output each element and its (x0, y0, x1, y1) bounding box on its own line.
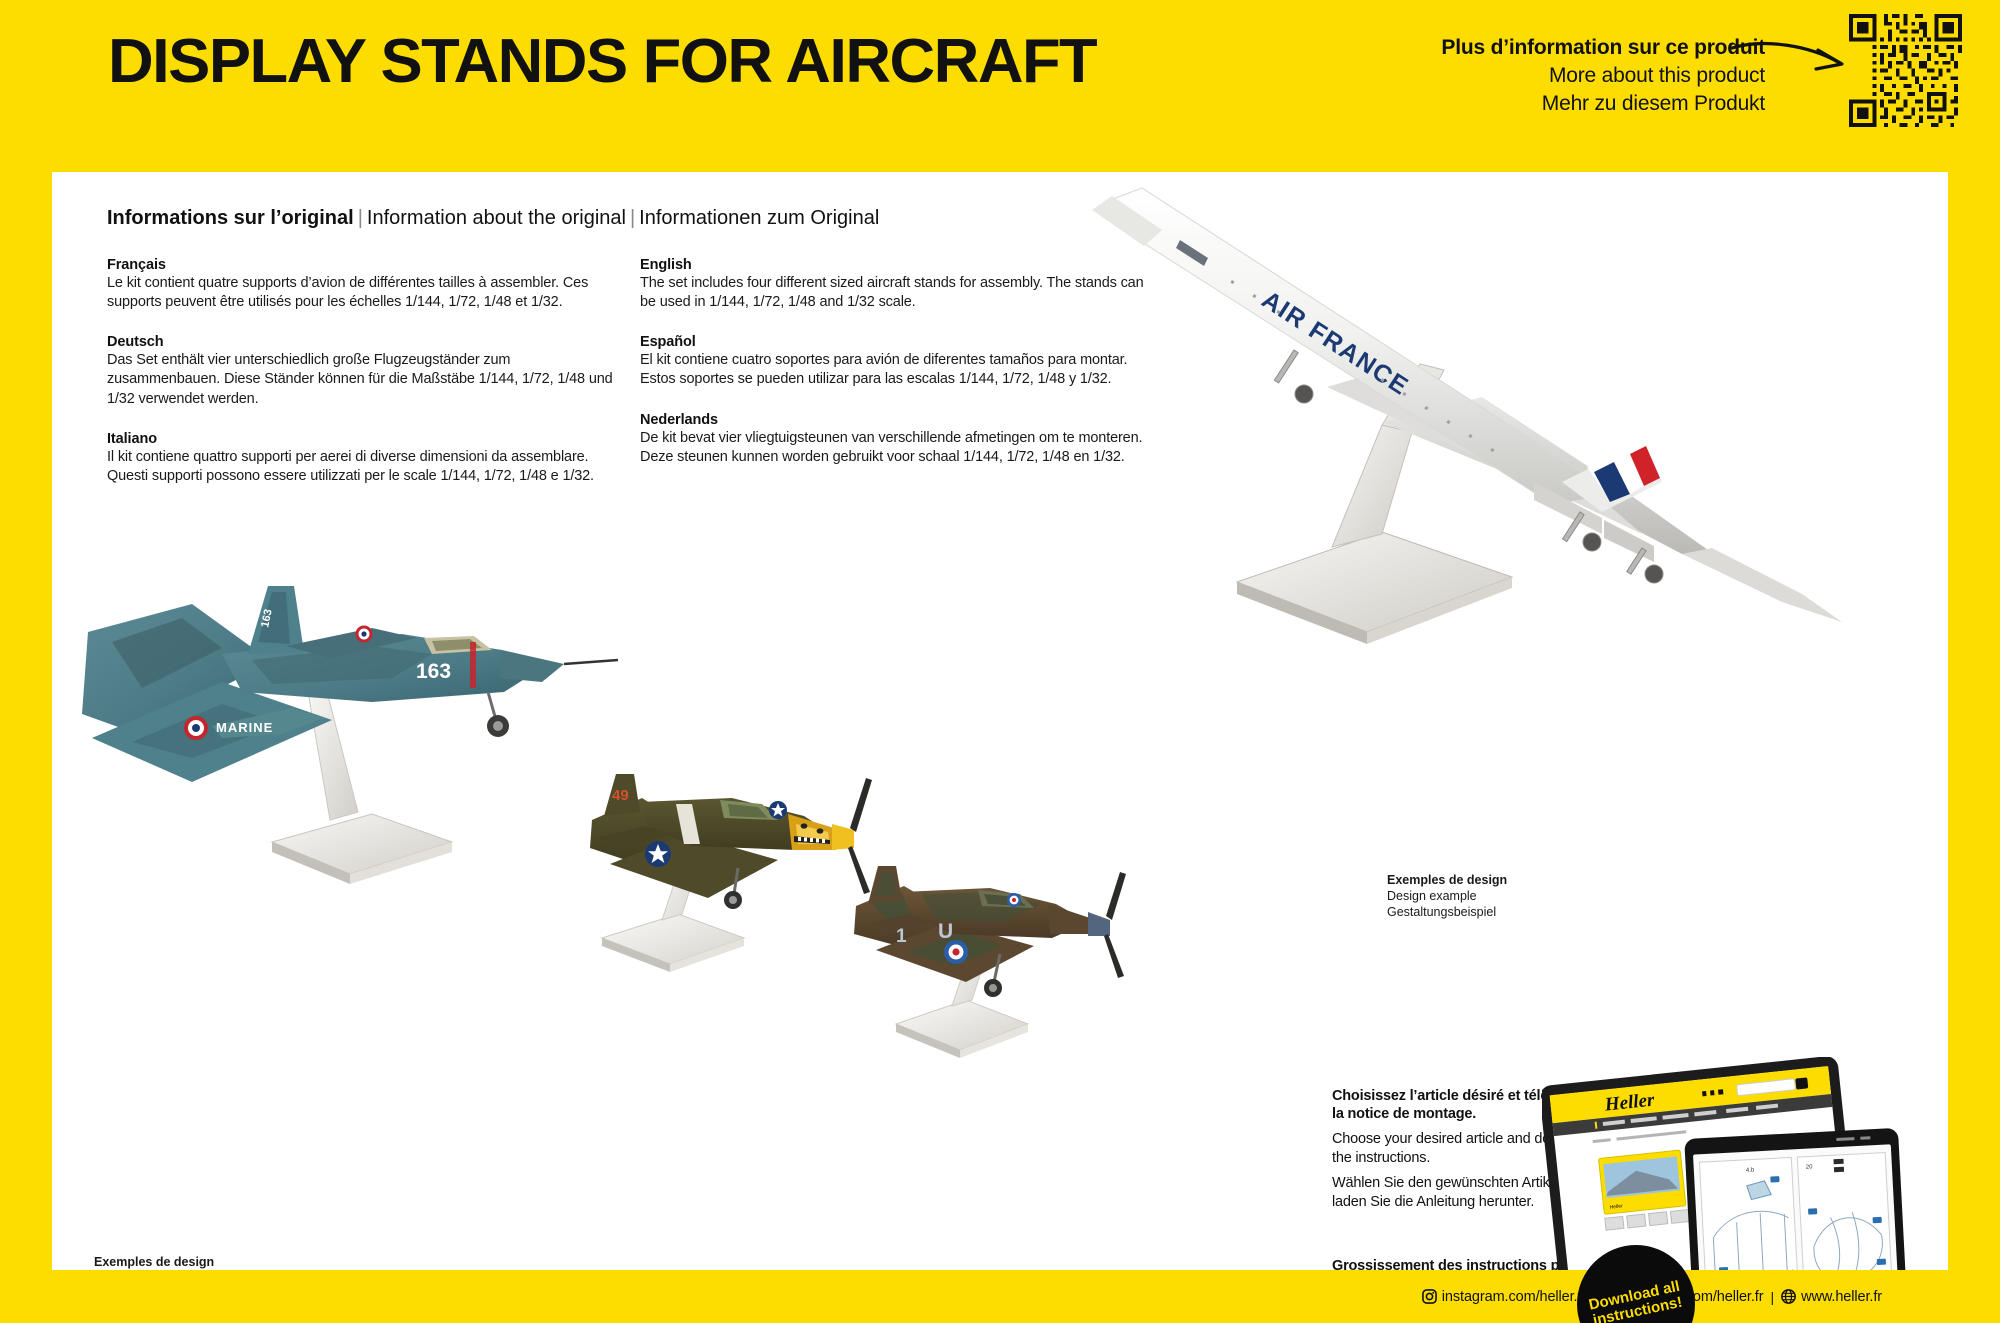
svg-text:AIR FRANCE: AIR FRANCE (1257, 286, 1414, 402)
concorde-model: AIR FRANCE (1092, 188, 1842, 622)
language-text: The set includes four different sized ai… (640, 274, 1150, 312)
footer-separator-2: | (1763, 1289, 1781, 1305)
info-heading-de: Informationen zum Original (639, 207, 879, 229)
language-text: El kit contiene cuatro soportes para avi… (640, 351, 1150, 389)
info-heading-separator-2: | (626, 207, 639, 229)
language-block-italiano: Italiano Il kit contiene quattro support… (107, 431, 617, 486)
language-block-espanol: Español El kit contiene cuatro soportes … (640, 334, 1150, 389)
language-title: Français (107, 257, 617, 273)
info-heading: Informations sur l’original|Information … (107, 207, 879, 230)
instagram-link[interactable]: instagram.com/heller.fr (1422, 1289, 1586, 1305)
language-block-nederlands: Nederlands De kit bevat vier vliegtuigst… (640, 412, 1150, 467)
globe-icon (1781, 1289, 1796, 1304)
language-title: Nederlands (640, 412, 1150, 428)
info-heading-fr: Informations sur l’original (107, 207, 354, 229)
svg-text:20: 20 (1806, 1164, 1814, 1170)
language-block-deutsch: Deutsch Das Set enthält vier unterschied… (107, 334, 617, 408)
roundel (186, 718, 206, 738)
website-link[interactable]: www.heller.fr (1781, 1289, 1882, 1305)
instagram-label: instagram.com/heller.fr (1442, 1289, 1586, 1305)
caption-line-de: Gestaltungsbeispiel (1387, 904, 1507, 920)
qr-code[interactable] (1849, 14, 1962, 127)
us-star-roundel (769, 801, 787, 819)
page-footer: instagram.com/heller.fr | facebook.com/h… (0, 1270, 2000, 1323)
language-block-francais: Français Le kit contient quatre supports… (107, 257, 617, 312)
svg-text:163: 163 (416, 660, 451, 683)
language-title: Italiano (107, 431, 617, 447)
language-title: Deutsch (107, 334, 617, 350)
more-info-fr: Plus d’information sur ce produit (1441, 34, 1765, 62)
more-info-de: Mehr zu diesem Produkt (1441, 90, 1765, 118)
language-text: Le kit contient quatre supports d’avion … (107, 274, 617, 312)
raf-roundel (1007, 893, 1021, 907)
website-label: www.heller.fr (1801, 1289, 1882, 1305)
svg-text:4.b: 4.b (1746, 1167, 1755, 1173)
svg-text:U: U (938, 920, 953, 943)
us-star-roundel (645, 841, 671, 867)
language-text: Das Set enthält vier unterschiedlich gro… (107, 351, 617, 408)
instagram-icon (1422, 1289, 1437, 1304)
roundel (357, 627, 371, 641)
curved-arrow-right-icon (1730, 38, 1850, 78)
svg-text:1: 1 (896, 926, 907, 947)
caption-line-fr: Exemples de design (94, 1254, 214, 1270)
poster-page: DISPLAY STANDS FOR AIRCRAFT Plus d’infor… (0, 0, 2000, 1323)
language-title: Español (640, 334, 1150, 350)
badge-label: Download all instructions! (1575, 1276, 1697, 1323)
language-title: English (640, 257, 1150, 273)
language-block-english: English The set includes four different … (640, 257, 1150, 312)
caption-line-en: Design example (1387, 888, 1507, 904)
more-info-text-group: Plus d’information sur ce produit More a… (1441, 34, 1765, 118)
language-text: Il kit contiene quattro supporti per aer… (107, 448, 617, 486)
design-example-caption-concorde: Exemples de design Design example Gestal… (1387, 872, 1507, 920)
concorde-photo: AIR FRANCE (1082, 182, 1912, 782)
info-heading-en: Information about the original (367, 207, 626, 229)
raf-roundel (944, 940, 968, 964)
svg-text:49: 49 (612, 787, 629, 804)
language-text: De kit bevat vier vliegtuigsteunen van v… (640, 429, 1150, 467)
p40-model: 49 (590, 774, 872, 909)
language-column-left: Français Le kit contient quatre supports… (107, 257, 617, 508)
more-info-en: More about this product (1441, 62, 1765, 90)
caption-line-fr: Exemples de design (1387, 872, 1507, 888)
info-heading-separator-1: | (354, 207, 367, 229)
svg-text:MARINE: MARINE (216, 720, 273, 735)
hurricane-photo: 1 U (852, 842, 1152, 1062)
content-sheet: Informations sur l’original|Information … (52, 172, 1948, 1270)
page-title: DISPLAY STANDS FOR AIRCRAFT (108, 31, 1096, 93)
language-column-right: English The set includes four different … (640, 257, 1150, 489)
super-etendard-model: 163 (82, 586, 618, 782)
hurricane-model: 1 U (854, 866, 1126, 997)
super-etendard-photo: 163 (72, 542, 632, 902)
page-header: DISPLAY STANDS FOR AIRCRAFT Plus d’infor… (0, 0, 2000, 160)
